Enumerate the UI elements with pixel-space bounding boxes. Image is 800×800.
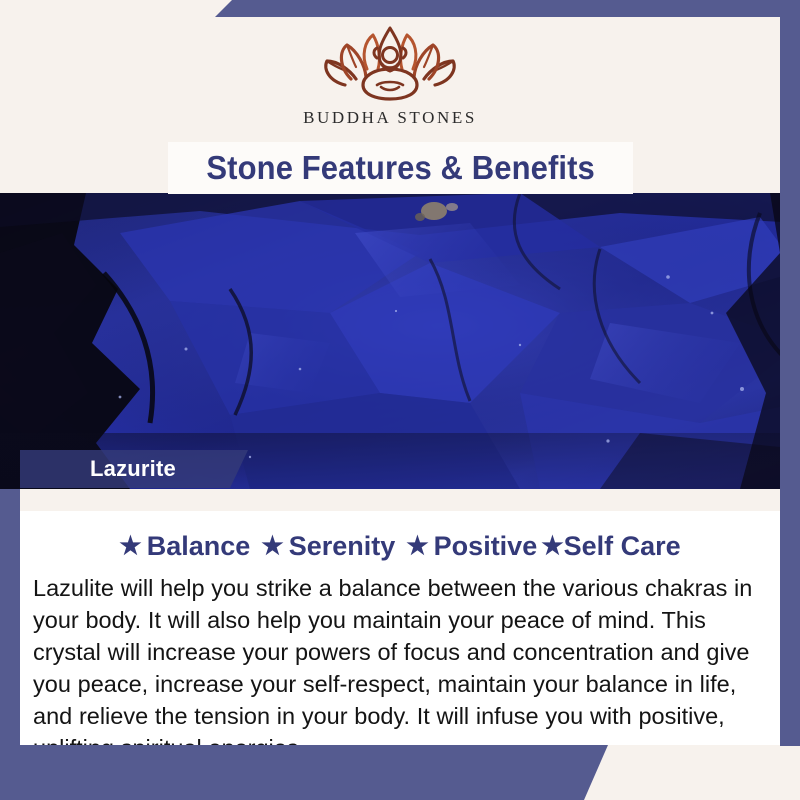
content-panel: ★Balance★Serenity★Positive★Self Care Laz…: [20, 511, 780, 745]
benefit-label-2: Positive: [434, 531, 538, 561]
star-icon: ★: [119, 531, 141, 561]
star-icon: ★: [406, 531, 428, 561]
stone-description: Lazulite will help you strike a balance …: [33, 573, 770, 765]
decorative-right-bar: [780, 17, 800, 746]
benefit-item-2: ★Positive: [406, 531, 537, 561]
benefit-label-3: Self Care: [564, 531, 681, 561]
benefit-item-0: ★Balance: [119, 531, 250, 561]
benefit-label-1: Serenity: [289, 531, 396, 561]
brand-header: BUDDHA STONES: [0, 17, 780, 142]
brand-logo: BUDDHA STONES: [0, 25, 780, 128]
cream-divider-strip: [20, 489, 780, 511]
stone-photo: [0, 193, 800, 489]
page-title: Stone Features & Benefits: [206, 149, 594, 187]
decorative-bottom-bar: [0, 745, 608, 800]
brand-name: BUDDHA STONES: [303, 108, 477, 128]
decorative-left-bar: [0, 489, 20, 800]
benefit-item-3: ★Self Care: [541, 531, 680, 561]
stone-info-card: BUDDHA STONES Stone Features & Benefits: [0, 0, 800, 800]
star-icon: ★: [261, 531, 283, 561]
decorative-top-bar: [215, 0, 800, 17]
stone-name: Lazurite: [20, 456, 176, 482]
star-icon: ★: [541, 531, 563, 561]
benefit-label-0: Balance: [147, 531, 251, 561]
stone-name-banner: Lazurite: [20, 450, 248, 488]
benefits-list: ★Balance★Serenity★Positive★Self Care: [20, 531, 780, 562]
benefit-item-1: ★Serenity: [261, 531, 395, 561]
title-panel: Stone Features & Benefits: [168, 142, 633, 194]
lotus-meditation-figure-icon: [315, 25, 465, 107]
